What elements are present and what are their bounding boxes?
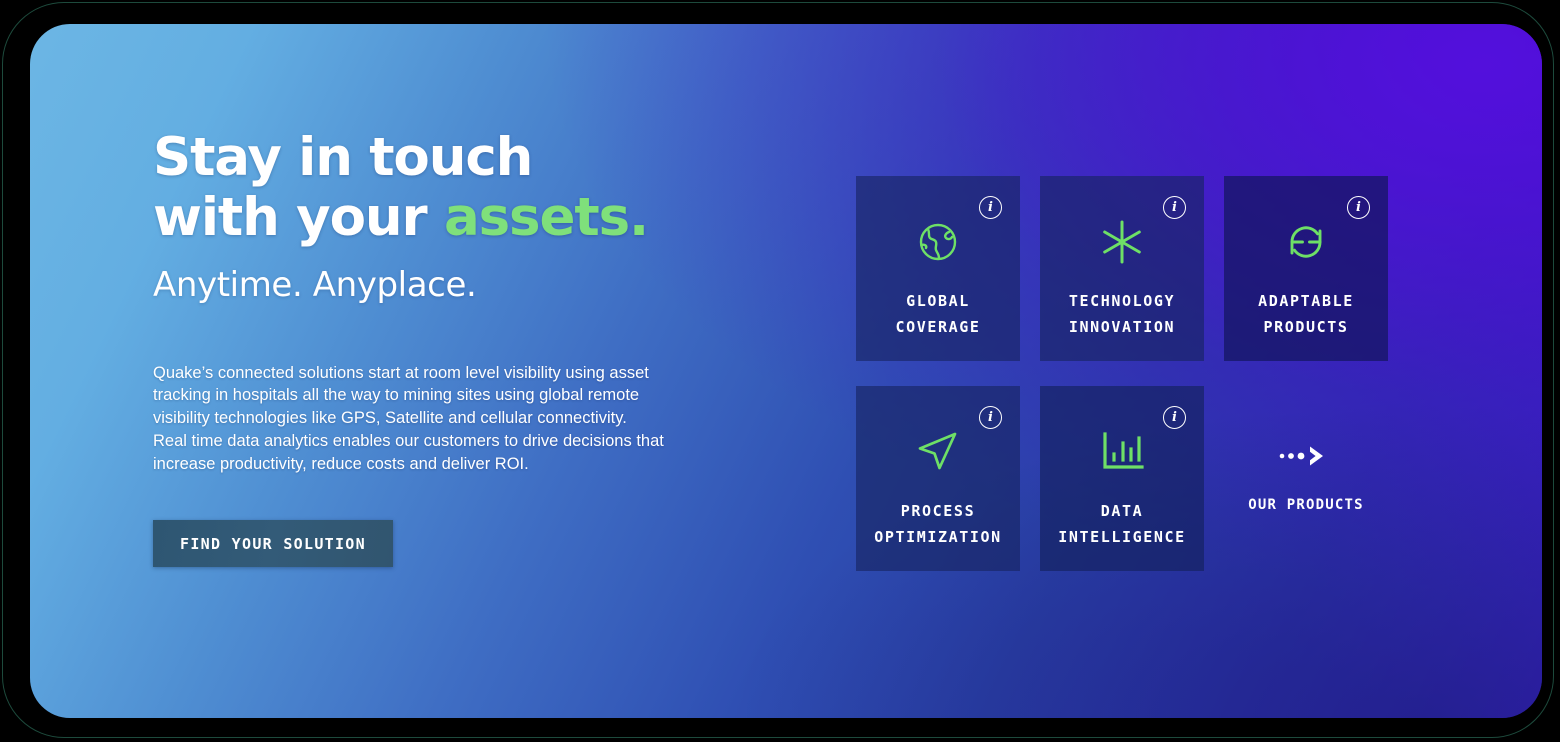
info-icon[interactable]: i <box>1163 196 1186 219</box>
tile-global-coverage[interactable]: i GLOBAL COVERAGE <box>856 176 1020 361</box>
tile-label-line-1: ADAPTABLE <box>1258 292 1354 310</box>
tile-label-line-2: COVERAGE <box>895 318 980 336</box>
page-subtitle: Anytime. Anyplace. <box>153 265 713 306</box>
tile-technology-innovation[interactable]: i TECHNOLOGY INNOVATION <box>1040 176 1204 361</box>
refresh-cycle-icon <box>1282 213 1330 271</box>
tile-label: GLOBAL COVERAGE <box>895 289 980 341</box>
tile-label: ADAPTABLE PRODUCTS <box>1258 289 1354 341</box>
tile-label-line-1: PROCESS <box>901 502 975 520</box>
our-products-link[interactable]: OUR PRODUCTS <box>1224 386 1388 571</box>
our-products-label: OUR PRODUCTS <box>1248 497 1364 513</box>
tile-label: DATA INTELLIGENCE <box>1058 499 1186 551</box>
feature-tile-grid: i GLOBAL COVERAGE i <box>856 176 1388 571</box>
page-title: Stay in touch with your assets. <box>153 128 713 249</box>
asterisk-burst-icon <box>1097 213 1147 271</box>
tile-process-optimization[interactable]: i PROCESS OPTIMIZATION <box>856 386 1020 571</box>
headline-line-2-plain: with your <box>153 187 444 248</box>
tile-label: PROCESS OPTIMIZATION <box>874 499 1002 551</box>
tile-label-line-1: TECHNOLOGY <box>1069 292 1175 310</box>
tile-label-line-2: INNOVATION <box>1069 318 1175 336</box>
hero-content: Stay in touch with your assets. Anytime.… <box>0 0 1560 742</box>
dots-arrow-icon <box>1277 443 1335 469</box>
info-icon[interactable]: i <box>1163 406 1186 429</box>
tile-label: TECHNOLOGY INNOVATION <box>1069 289 1175 341</box>
tile-adaptable-products[interactable]: i ADAPTABLE PRODUCTS <box>1224 176 1388 361</box>
tile-label-line-1: DATA <box>1101 502 1144 520</box>
tile-data-intelligence[interactable]: i DATA INTELLIGENCE <box>1040 386 1204 571</box>
info-icon[interactable]: i <box>1347 196 1370 219</box>
hero-description: Quake’s connected solutions start at roo… <box>153 362 665 476</box>
find-your-solution-button[interactable]: Find Your Solution <box>153 520 393 567</box>
bar-chart-icon <box>1098 423 1146 481</box>
info-icon[interactable]: i <box>979 196 1002 219</box>
tile-label-line-2: OPTIMIZATION <box>874 528 1002 546</box>
paper-plane-icon <box>913 423 963 481</box>
headline-line-2-accent: assets. <box>444 187 648 248</box>
info-icon[interactable]: i <box>979 406 1002 429</box>
screenshot-root: Stay in touch with your assets. Anytime.… <box>0 0 1560 742</box>
hero-text-column: Stay in touch with your assets. Anytime.… <box>153 128 713 567</box>
globe-icon <box>915 213 961 271</box>
headline-line-1: Stay in touch <box>153 127 532 188</box>
tile-label-line-1: GLOBAL <box>906 292 970 310</box>
tile-label-line-2: INTELLIGENCE <box>1058 528 1186 546</box>
tile-label-line-2: PRODUCTS <box>1263 318 1348 336</box>
